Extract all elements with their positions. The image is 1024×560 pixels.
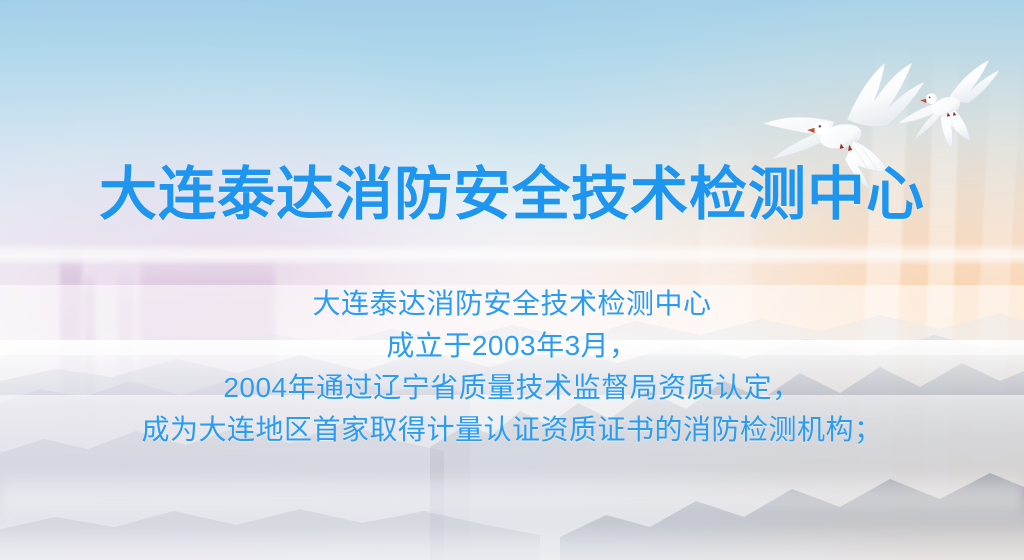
description-line: 成为大连地区首家取得计量认证资质证书的消防检测机构； bbox=[0, 409, 1024, 451]
page-title: 大连泰达消防安全技术检测中心 bbox=[0, 166, 1024, 224]
slide-banner: 大连泰达消防安全技术检测中心 大连泰达消防安全技术检测中心 成立于2003年3月… bbox=[0, 0, 1024, 560]
description-line: 成立于2003年3月， bbox=[0, 325, 1024, 367]
description-line: 大连泰达消防安全技术检测中心 bbox=[0, 283, 1024, 325]
description-block: 大连泰达消防安全技术检测中心 成立于2003年3月， 2004年通过辽宁省质量技… bbox=[0, 283, 1024, 451]
description-line: 2004年通过辽宁省质量技术监督局资质认定， bbox=[0, 367, 1024, 409]
text-content: 大连泰达消防安全技术检测中心 大连泰达消防安全技术检测中心 成立于2003年3月… bbox=[0, 0, 1024, 560]
